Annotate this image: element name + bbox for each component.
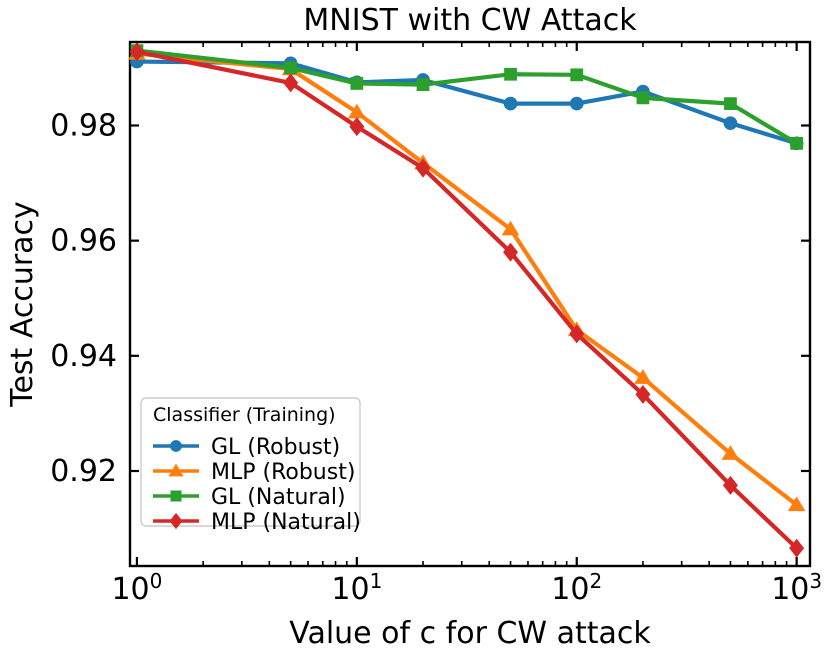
marker-circle	[504, 97, 518, 111]
legend-label: MLP (Robust)	[211, 460, 355, 485]
marker-square	[350, 77, 363, 90]
y-tick-label: 0.96	[50, 224, 117, 259]
y-tick-label: 0.98	[50, 108, 117, 143]
chart-figure: MNIST with CW Attack1001011021030.920.94…	[0, 0, 830, 653]
y-tick-label: 0.92	[50, 454, 117, 489]
marker-square	[284, 62, 297, 75]
chart-title: MNIST with CW Attack	[303, 3, 637, 38]
marker-diamond	[283, 73, 298, 92]
y-tick-label: 0.94	[50, 339, 117, 374]
marker-square	[637, 91, 650, 104]
legend: Classifier (Training)GL (Robust)MLP (Rob…	[141, 398, 361, 535]
marker-square	[417, 78, 430, 91]
line-chart: MNIST with CW Attack1001011021030.920.94…	[0, 0, 830, 653]
x-tick-label: 100	[111, 569, 162, 607]
x-tick-label: 103	[771, 569, 822, 607]
x-tick-label: 102	[551, 569, 602, 607]
marker-square	[790, 137, 803, 150]
x-axis-title: Value of c for CW attack	[289, 616, 651, 651]
x-tick-label: 101	[331, 569, 382, 607]
marker-square	[724, 97, 737, 110]
marker-circle	[724, 116, 738, 130]
legend-label: GL (Robust)	[211, 435, 340, 460]
marker-square-legend	[170, 490, 181, 501]
marker-diamond	[349, 117, 364, 136]
marker-square	[570, 68, 583, 81]
series-3	[131, 44, 803, 149]
marker-circle-legend	[170, 440, 182, 452]
legend-title: Classifier (Training)	[153, 404, 336, 426]
y-axis-title: Test Accuracy	[5, 201, 40, 408]
marker-square	[504, 68, 517, 81]
legend-label: GL (Natural)	[211, 485, 346, 510]
legend-label: MLP (Natural)	[211, 510, 361, 535]
marker-circle	[570, 97, 584, 111]
